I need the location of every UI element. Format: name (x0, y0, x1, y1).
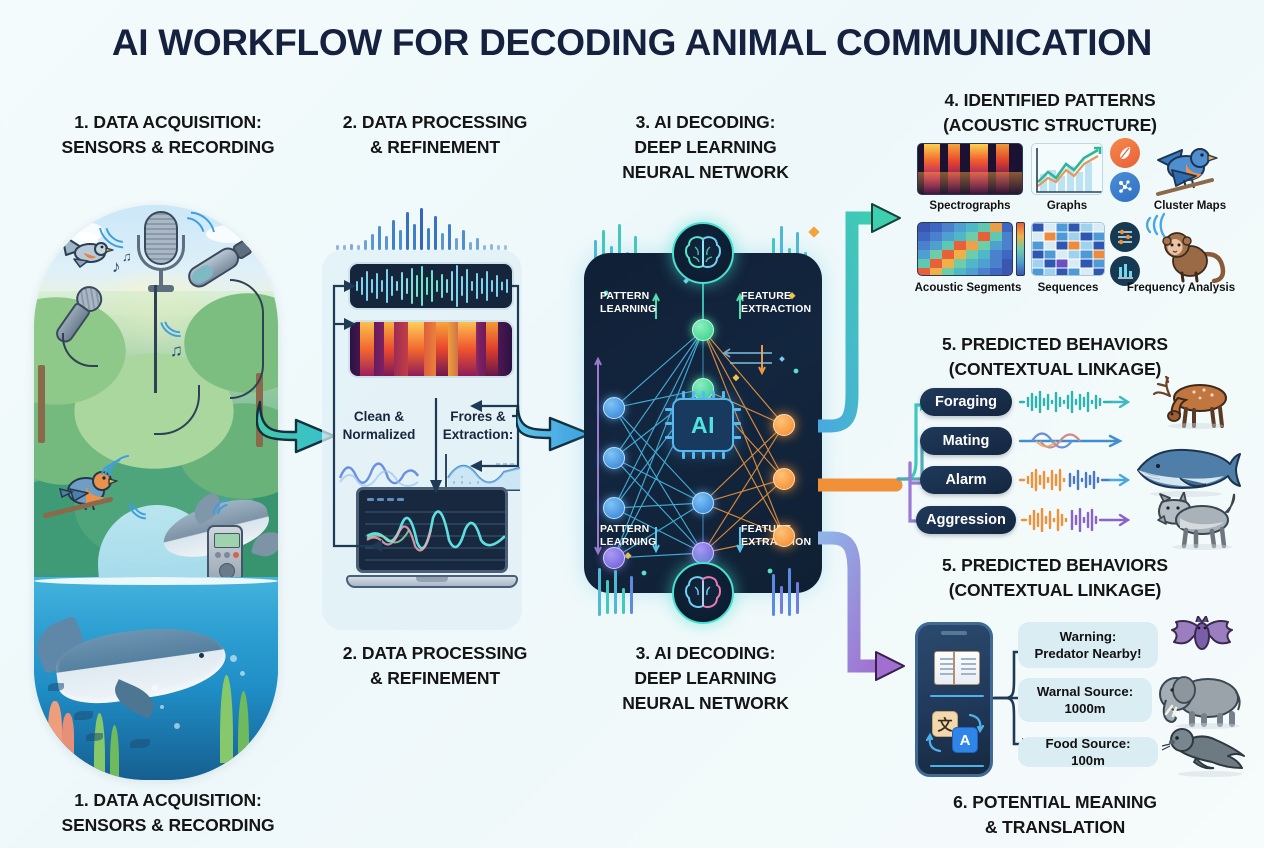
heatmap-grid (918, 223, 1013, 276)
book-spine (953, 651, 955, 685)
infographic-canvas: AI WORKFLOW FOR DECODING ANIMAL COMMUNIC… (0, 0, 1264, 848)
heading-step-2-line1: 2. DATA PROCESSING (320, 110, 550, 135)
nn-label-pattern-learning-bottom-line1: PATTERN (600, 523, 656, 536)
water-surface-line (34, 577, 278, 585)
translation-message-warnal-source: Warnal Source: 1000m (1018, 678, 1152, 722)
translation-message-food-source: Food Source: 100m (1018, 737, 1158, 767)
heading-step-4-line2: (ACOUSTIC STRUCTURE) (905, 113, 1195, 138)
bluebird-icon (1148, 140, 1218, 202)
translation-message-warning-line2: Predator Nearby! (1034, 645, 1141, 662)
translation-message-warnal-source-line2: 1000m (1064, 700, 1105, 717)
page-title: AI WORKFLOW FOR DECODING ANIMAL COMMUNIC… (0, 22, 1264, 64)
bubble (240, 671, 245, 676)
bubble (230, 655, 237, 662)
nn-node-hidden-4 (692, 542, 714, 564)
heading-step-4: 4. IDENTIFIED PATTERNS (ACOUSTIC STRUCTU… (905, 88, 1195, 138)
pattern-caption-graphs: Graphs (1028, 200, 1106, 212)
processing-flow-connectors (326, 256, 526, 606)
behavior-waveform-aggression (1020, 508, 1132, 532)
heading-step-5b-line2: (CONTEXTUAL LINKAGE) (905, 578, 1205, 603)
fish-icon (74, 711, 93, 720)
heading-step-3-line3: NEURAL NETWORK (593, 160, 818, 185)
line-chart-icon (1031, 143, 1103, 195)
nn-node-input-2 (603, 447, 625, 469)
translation-message-food-source-line1: Food Source: 100m (1027, 735, 1149, 770)
caption-step-3: 3. AI DECODING: DEEP LEARNING NEURAL NET… (593, 641, 818, 716)
heading-step-5b: 5. PREDICTED BEHAVIORS (CONTEXTUAL LINKA… (905, 553, 1205, 603)
recorder-screen (214, 533, 240, 548)
behavior-pill-mating[interactable]: Mating (920, 427, 1012, 455)
phone-divider (930, 695, 984, 697)
fish-icon (86, 733, 103, 741)
translation-message-warning: Warning: Predator Nearby! (1018, 622, 1158, 668)
coral (62, 713, 74, 763)
coral (48, 701, 62, 763)
heading-step-1-line2: SENSORS & RECORDING (28, 135, 308, 160)
nn-node-output-1 (773, 414, 795, 436)
whale-icon (1130, 440, 1242, 498)
phone-device: 文 A (915, 622, 993, 777)
elephant-icon (1152, 672, 1248, 730)
music-note-icon: ♫ (122, 249, 132, 264)
heading-step-1-line1: 1. DATA ACQUISITION: (28, 110, 308, 135)
brain-icon-top (672, 222, 734, 284)
pattern-caption-sequences: Sequences (1032, 282, 1104, 294)
phone-notch (941, 631, 967, 635)
translation-message-warnal-source-line1: Warnal Source: (1037, 683, 1133, 700)
caption-step-3-line3: NEURAL NETWORK (593, 691, 818, 716)
nn-bottom-ticks (588, 566, 820, 626)
heading-step-5-line1: 5. PREDICTED BEHAVIORS (905, 332, 1205, 357)
bubble (174, 723, 180, 729)
nn-label-pattern-learning-top-line2: LEARNING (600, 303, 656, 316)
mic-cable (230, 279, 264, 399)
bat-icon (1160, 616, 1244, 664)
brain-glyph (683, 235, 723, 271)
nature-scene-panel: ♪ ♫ ♫ ♪ ♫ ♪ (34, 205, 278, 780)
whale-eye (199, 653, 204, 658)
heading-step-6-line1: 6. POTENTIAL MEANING (905, 790, 1205, 815)
behavior-label-mating: Mating (943, 433, 990, 449)
top-waveform-decoration (336, 208, 512, 250)
behavior-waveform-mating (1018, 428, 1130, 454)
feather-icon (1110, 138, 1140, 168)
heading-step-3-line1: 3. AI DECODING: (593, 110, 818, 135)
heading-step-5: 5. PREDICTED BEHAVIORS (CONTEXTUAL LINKA… (905, 332, 1205, 382)
book-icon (934, 651, 980, 685)
nn-label-feature-extraction-top: FEATURE EXTRACTION (741, 290, 811, 316)
nn-node-hidden-1 (692, 319, 714, 341)
nn-label-feature-extraction-top-line1: FEATURE (741, 290, 811, 303)
heading-step-3: 3. AI DECODING: DEEP LEARNING NEURAL NET… (593, 110, 818, 185)
behavior-pill-aggression[interactable]: Aggression (916, 506, 1016, 534)
mic-cable (154, 285, 157, 393)
recorder-button (224, 552, 230, 558)
behavior-waveform-foraging (1018, 390, 1130, 414)
nn-node-input-3 (603, 497, 625, 519)
seal-icon (1158, 726, 1250, 778)
translation-message-warning-line1: Warning: (1060, 628, 1117, 645)
nn-node-hidden-3 (692, 492, 714, 514)
nn-node-input-1 (603, 397, 625, 419)
cluster-map-icon (1110, 172, 1140, 202)
behavior-label-foraging: Foraging (935, 394, 997, 410)
caption-step-3-line1: 3. AI DECODING: (593, 641, 818, 666)
pattern-caption-spectrographs: Spectrographs (905, 200, 1035, 212)
music-note-icon: ♪ (112, 257, 121, 277)
caption-step-1: 1. DATA ACQUISITION: SENSORS & RECORDING (28, 788, 308, 838)
cloud-icon (230, 217, 262, 235)
phone-divider (930, 765, 984, 767)
heading-step-1: 1. DATA ACQUISITION: SENSORS & RECORDING (28, 110, 308, 160)
recorder-button (215, 552, 221, 558)
nn-node-output-3 (773, 525, 795, 547)
pattern-caption-cluster-maps: Cluster Maps (1138, 200, 1242, 212)
caption-step-3-line2: DEEP LEARNING (593, 666, 818, 691)
coral (36, 717, 47, 763)
caption-step-1-line1: 1. DATA ACQUISITION: (28, 788, 308, 813)
heatmap-icon (917, 222, 1013, 276)
nn-label-pattern-learning-top-line1: PATTERN (600, 290, 656, 303)
heatmap-colorbar (1016, 222, 1025, 276)
heading-step-5b-line1: 5. PREDICTED BEHAVIORS (905, 553, 1205, 578)
bubble (160, 705, 164, 709)
caption-step-2-line2: & REFINEMENT (320, 666, 550, 691)
nn-label-feature-extraction-top-line2: EXTRACTION (741, 303, 811, 316)
ai-chip-pins (672, 398, 734, 452)
behavior-label-alarm: Alarm (945, 472, 986, 488)
fish-icon (48, 683, 64, 691)
heading-step-3-line2: DEEP LEARNING (593, 135, 818, 160)
wolf-icon (1150, 492, 1238, 550)
nn-label-pattern-learning-bottom: PATTERN LEARNING (600, 523, 656, 549)
behavior-label-aggression: Aggression (926, 512, 1006, 528)
heading-step-4-line1: 4. IDENTIFIED PATTERNS (905, 88, 1195, 113)
caption-step-1-line2: SENSORS & RECORDING (28, 813, 308, 838)
monkey-icon (1160, 225, 1230, 283)
nn-label-pattern-learning-top: PATTERN LEARNING (600, 290, 656, 316)
recorder-record-button (233, 552, 239, 558)
spectrogram-icon (917, 143, 1023, 195)
nn-node-output-2 (773, 468, 795, 490)
heading-step-6-line2: & TRANSLATION (905, 815, 1205, 840)
line-chart-glyph (1032, 144, 1103, 195)
heading-step-2: 2. DATA PROCESSING & REFINEMENT (320, 110, 550, 160)
behavior-pill-alarm[interactable]: Alarm (920, 466, 1012, 494)
pattern-caption-frequency-analysis: Frequency Analysis (1106, 282, 1256, 294)
bubble (152, 685, 158, 691)
heading-step-6: 6. POTENTIAL MEANING & TRANSLATION (905, 790, 1205, 840)
field-recorder-icon (207, 525, 243, 583)
translate-swap-arrows-icon (926, 709, 986, 757)
heading-step-2-line2: & REFINEMENT (320, 135, 550, 160)
deer-icon (1146, 376, 1238, 430)
behavior-pill-foraging[interactable]: Foraging (920, 388, 1012, 416)
pattern-caption-acoustic-segments: Acoustic Segments (900, 282, 1036, 294)
sequence-grid-icon (1031, 222, 1105, 276)
behavior-waveform-alarm (1018, 468, 1130, 492)
music-note-icon: ♫ (170, 341, 183, 361)
caption-step-2: 2. DATA PROCESSING & REFINEMENT (320, 641, 550, 691)
tree-trunk (38, 365, 45, 443)
fish-icon (130, 739, 150, 748)
sequence-grid-glyph (1032, 223, 1105, 276)
frequency-sliders-icon (1110, 222, 1140, 252)
caption-step-2-line1: 2. DATA PROCESSING (320, 641, 550, 666)
